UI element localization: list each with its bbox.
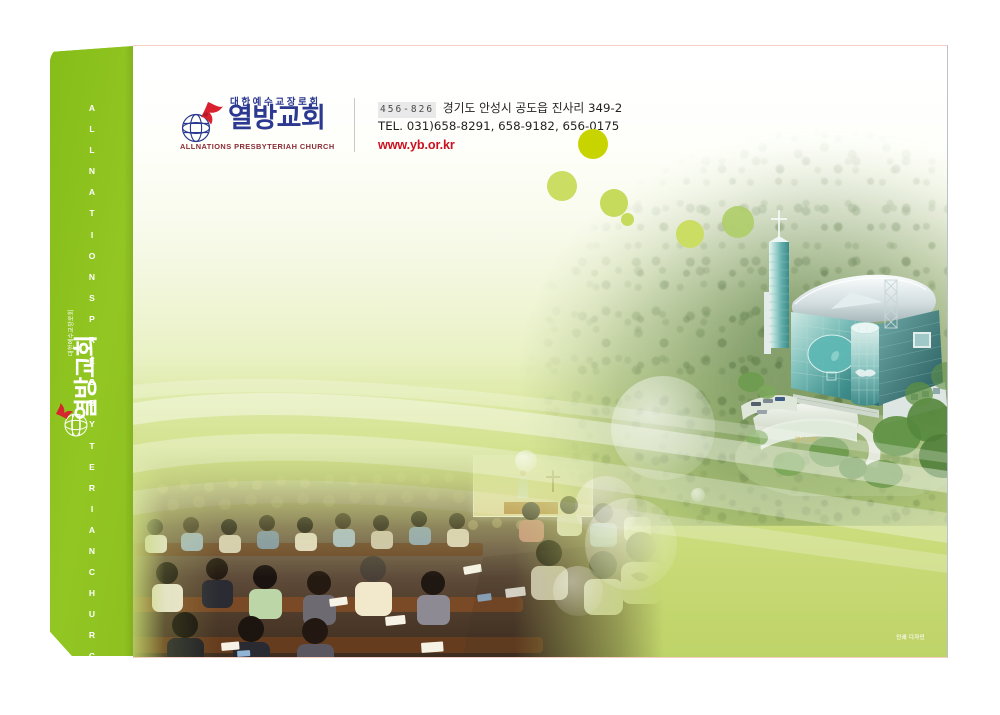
spine-letter: R <box>89 631 95 640</box>
spine-letter: T <box>89 442 94 451</box>
spine-letter: C <box>89 652 95 656</box>
spine-letter: R <box>89 484 95 493</box>
folder-spine: ALLNATIONSPRESBYTERIANCHURCH 열방교회 대한예수교장… <box>50 46 134 656</box>
spine-letter: L <box>89 146 94 155</box>
spine-letter: N <box>89 547 95 556</box>
congregation-crowd <box>133 447 663 657</box>
logo-church-name-text: 열방교회 <box>228 105 325 133</box>
dove-globe-icon <box>178 100 226 146</box>
spine-letter: I <box>91 505 93 514</box>
spine-letter: N <box>89 167 95 176</box>
spine-letter: N <box>89 273 95 282</box>
folder-cover: ALLNATIONSPRESBYTERIANCHURCH 열방교회 대한예수교장… <box>0 0 1000 715</box>
bubble-5 <box>676 220 704 248</box>
spine-letter: A <box>89 188 95 197</box>
spine-dove-globe-icon <box>52 398 92 440</box>
spine-letter: E <box>89 463 95 472</box>
spine-letter: U <box>89 610 95 619</box>
bubble-2 <box>547 171 577 201</box>
spine-letter: L <box>89 125 94 134</box>
bubble-1 <box>578 129 608 159</box>
spine-letter: A <box>89 104 95 113</box>
street-address: 경기도 안성시 공도읍 진사리 349-2 <box>443 101 623 115</box>
church-logo: 대한예수교장로회 열방교회 ALLNATIONS PRESBYTERIAH CH… <box>178 94 340 156</box>
address-line: 456-826 경기도 안성시 공도읍 진사리 349-2 <box>378 100 622 118</box>
bubble-6 <box>722 206 754 238</box>
bubble-4 <box>621 213 634 226</box>
church-cross <box>771 210 787 240</box>
church-bell-tower <box>764 210 789 354</box>
spine-letter: A <box>89 526 95 535</box>
spine-logo: 열방교회 대한예수교장로회 <box>50 316 130 440</box>
spine-letter: I <box>91 231 93 240</box>
spine-letter: T <box>89 209 94 218</box>
header-divider <box>354 98 355 152</box>
print-credit-text: 인쇄 디자인 <box>896 633 925 641</box>
postal-code: 456-826 <box>378 102 436 118</box>
spine-letter: H <box>89 589 95 598</box>
spine-letter: S <box>89 294 95 303</box>
spine-logo-denomination: 대한예수교장로회 <box>66 309 75 356</box>
spine-letter: O <box>89 252 96 261</box>
logo-english-name-text: ALLNATIONS PRESBYTERIAH CHURCH <box>180 142 335 151</box>
cover-panel: 열방교회 <box>133 45 948 658</box>
cover-header: 대한예수교장로회 열방교회 ALLNATIONS PRESBYTERIAH CH… <box>178 94 340 156</box>
congregation-photo <box>133 447 663 657</box>
spine-letter: C <box>89 568 95 577</box>
